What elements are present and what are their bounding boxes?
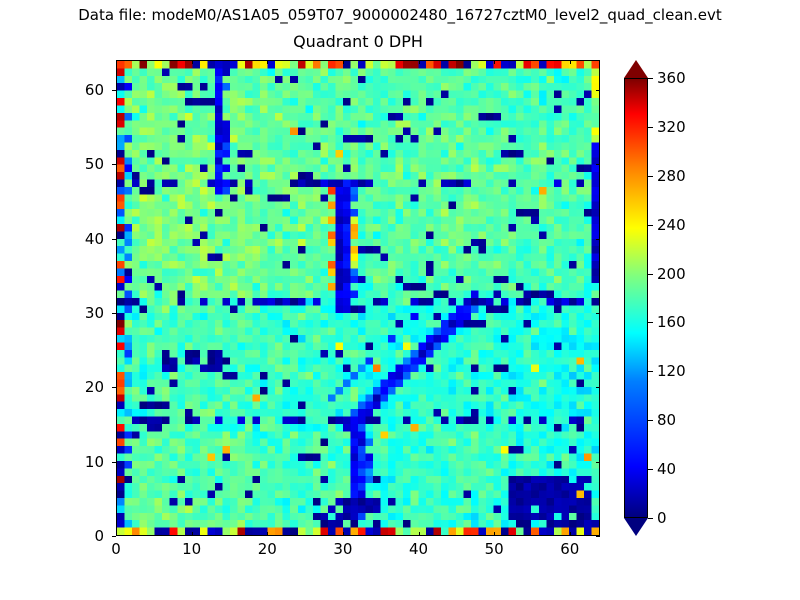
colorbar-tick-label: 120 bbox=[657, 362, 686, 380]
y-tick-mark bbox=[112, 536, 116, 537]
colorbar-tick-mark bbox=[648, 225, 653, 226]
colorbar-tick-mark bbox=[648, 274, 653, 275]
x-tick-mark-top bbox=[570, 60, 571, 64]
y-tick-mark bbox=[112, 462, 116, 463]
colorbar-tick-label: 200 bbox=[657, 265, 686, 283]
x-tick-label: 60 bbox=[540, 540, 600, 558]
colorbar bbox=[624, 60, 648, 536]
x-tick-label: 50 bbox=[464, 540, 524, 558]
y-tick-mark-right bbox=[596, 90, 600, 91]
colorbar-tick-mark bbox=[648, 176, 653, 177]
y-tick-label: 60 bbox=[42, 81, 104, 99]
x-tick-mark bbox=[267, 532, 268, 536]
y-tick-mark-right bbox=[596, 164, 600, 165]
y-tick-mark bbox=[112, 239, 116, 240]
y-tick-mark-right bbox=[596, 387, 600, 388]
colorbar-tick-label: 40 bbox=[657, 460, 676, 478]
colorbar-tick-label: 280 bbox=[657, 167, 686, 185]
x-tick-label: 40 bbox=[389, 540, 449, 558]
x-tick-mark-top bbox=[343, 60, 344, 64]
x-tick-mark-top bbox=[192, 60, 193, 64]
y-tick-label: 20 bbox=[42, 378, 104, 396]
colorbar-tick-label: 160 bbox=[657, 313, 686, 331]
colorbar-extend-high-arrow bbox=[624, 60, 648, 78]
x-tick-mark-top bbox=[494, 60, 495, 64]
plot-title: Quadrant 0 DPH bbox=[116, 32, 600, 51]
colorbar-tick-mark bbox=[648, 371, 653, 372]
colorbar-tick-mark bbox=[648, 322, 653, 323]
x-tick-label: 20 bbox=[237, 540, 297, 558]
colorbar-tick-mark bbox=[648, 127, 653, 128]
matplotlib-figure: Data file: modeM0/AS1A05_059T07_90000024… bbox=[0, 0, 800, 600]
y-tick-label: 30 bbox=[42, 304, 104, 322]
figure-suptitle: Data file: modeM0/AS1A05_059T07_90000024… bbox=[0, 6, 800, 24]
y-tick-mark bbox=[112, 90, 116, 91]
y-tick-mark bbox=[112, 164, 116, 165]
colorbar-tick-label: 240 bbox=[657, 216, 686, 234]
y-tick-mark bbox=[112, 313, 116, 314]
colorbar-tick-mark bbox=[648, 518, 653, 519]
colorbar-tick-mark bbox=[648, 78, 653, 79]
y-tick-mark-right bbox=[596, 239, 600, 240]
x-tick-mark bbox=[343, 532, 344, 536]
y-tick-mark-right bbox=[596, 462, 600, 463]
colorbar-tick-label: 360 bbox=[657, 69, 686, 87]
y-tick-label: 50 bbox=[42, 155, 104, 173]
x-tick-mark bbox=[419, 532, 420, 536]
y-tick-mark-right bbox=[596, 536, 600, 537]
colorbar-tick-label: 320 bbox=[657, 118, 686, 136]
colorbar-tick-label: 80 bbox=[657, 411, 676, 429]
x-tick-label: 10 bbox=[162, 540, 222, 558]
x-tick-mark-top bbox=[419, 60, 420, 64]
colorbar-tick-mark bbox=[648, 469, 653, 470]
colorbar-gradient bbox=[624, 78, 648, 518]
heatmap-axes bbox=[116, 60, 600, 536]
y-tick-mark bbox=[112, 387, 116, 388]
x-tick-mark bbox=[116, 532, 117, 536]
y-tick-label: 0 bbox=[42, 527, 104, 545]
colorbar-tick-label: 0 bbox=[657, 509, 667, 527]
colorbar-extend-low-arrow bbox=[624, 518, 648, 536]
colorbar-tick-mark bbox=[648, 420, 653, 421]
x-tick-mark bbox=[494, 532, 495, 536]
y-tick-label: 10 bbox=[42, 453, 104, 471]
heatmap-image bbox=[117, 61, 599, 535]
x-tick-mark-top bbox=[267, 60, 268, 64]
x-tick-label: 30 bbox=[313, 540, 373, 558]
x-tick-mark-top bbox=[116, 60, 117, 64]
x-tick-mark bbox=[570, 532, 571, 536]
y-tick-mark-right bbox=[596, 313, 600, 314]
y-tick-label: 40 bbox=[42, 230, 104, 248]
x-tick-mark bbox=[192, 532, 193, 536]
